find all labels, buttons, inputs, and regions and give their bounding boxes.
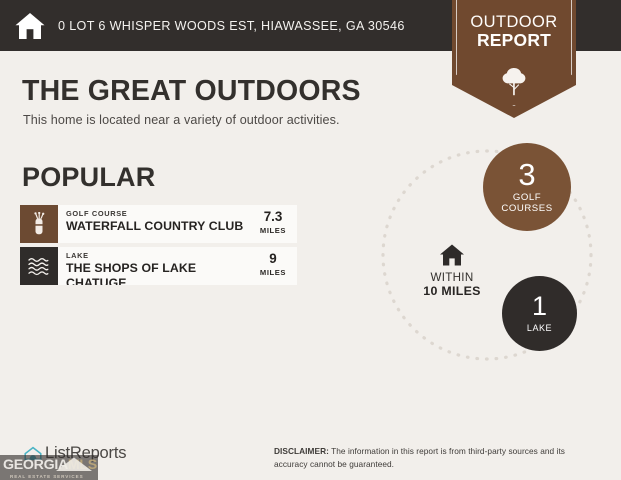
georgia-mls-watermark: GEORGIAMLS REAL ESTATE SERVICES [0, 455, 98, 480]
bubble-count: 3 [518, 160, 535, 189]
within-line-2: 10 MILES [411, 284, 493, 299]
within-distance-label: WITHIN 10 MILES [411, 243, 493, 299]
disclaimer: DISCLAIMER: The information in this repo… [274, 445, 594, 471]
summary-bubble-golf-courses: 3 GOLF COURSES [483, 143, 571, 231]
distance-value: 7.3 [257, 210, 289, 225]
header-content: 0 LOT 6 WHISPER WOODS EST, HIAWASSEE, GA… [14, 0, 405, 51]
distance-unit: MILES [257, 268, 289, 277]
home-icon [411, 243, 493, 267]
bubble-count: 1 [532, 294, 547, 320]
page-title: THE GREAT OUTDOORS [22, 75, 361, 108]
list-item-text: GOLF COURSE WATERFALL COUNTRY CLUB [58, 205, 255, 243]
summary-bubble-lake: 1 LAKE [502, 276, 577, 351]
within-line-1: WITHIN [411, 271, 493, 284]
list-item-category: GOLF COURSE [66, 210, 251, 218]
bubble-label: LAKE [527, 323, 552, 333]
distance-unit: MILES [257, 226, 289, 235]
list-item[interactable]: LAKE THE SHOPS OF LAKE CHATUGE 9 MILES [20, 247, 297, 285]
badge-line-2: REPORT [452, 31, 576, 50]
page-subtitle: This home is located near a variety of o… [23, 113, 340, 127]
waves-icon [20, 247, 58, 285]
popular-places-list: GOLF COURSE WATERFALL COUNTRY CLUB 7.3 M… [20, 205, 297, 289]
distance-value: 9 [257, 252, 289, 267]
list-item-distance: 9 MILES [255, 247, 297, 285]
list-item-category: LAKE [66, 252, 251, 260]
bubble-label: GOLF COURSES [501, 193, 552, 214]
list-item-distance: 7.3 MILES [255, 205, 297, 243]
section-heading-popular: POPULAR [22, 162, 155, 193]
outdoor-report-page: 0 LOT 6 WHISPER WOODS EST, HIAWASSEE, GA… [0, 0, 621, 480]
list-item-name: THE SHOPS OF LAKE CHATUGE [66, 261, 251, 285]
outdoor-report-badge: OUTDOOR REPORT [452, 0, 576, 118]
property-address: 0 LOT 6 WHISPER WOODS EST, HIAWASSEE, GA… [58, 19, 405, 33]
disclaimer-label: DISCLAIMER: [274, 446, 329, 456]
mls-roof-icon [54, 456, 94, 472]
bubble-label-line-2: COURSES [501, 204, 552, 215]
badge-line-1: OUTDOOR [452, 14, 576, 31]
list-item-text: LAKE THE SHOPS OF LAKE CHATUGE [58, 247, 255, 285]
golf-bag-icon [20, 205, 58, 243]
mls-tagline: REAL ESTATE SERVICES [10, 474, 98, 479]
list-item-name: WATERFALL COUNTRY CLUB [66, 219, 251, 234]
home-icon [14, 11, 46, 41]
list-item[interactable]: GOLF COURSE WATERFALL COUNTRY CLUB 7.3 M… [20, 205, 297, 243]
tree-icon [501, 66, 527, 96]
